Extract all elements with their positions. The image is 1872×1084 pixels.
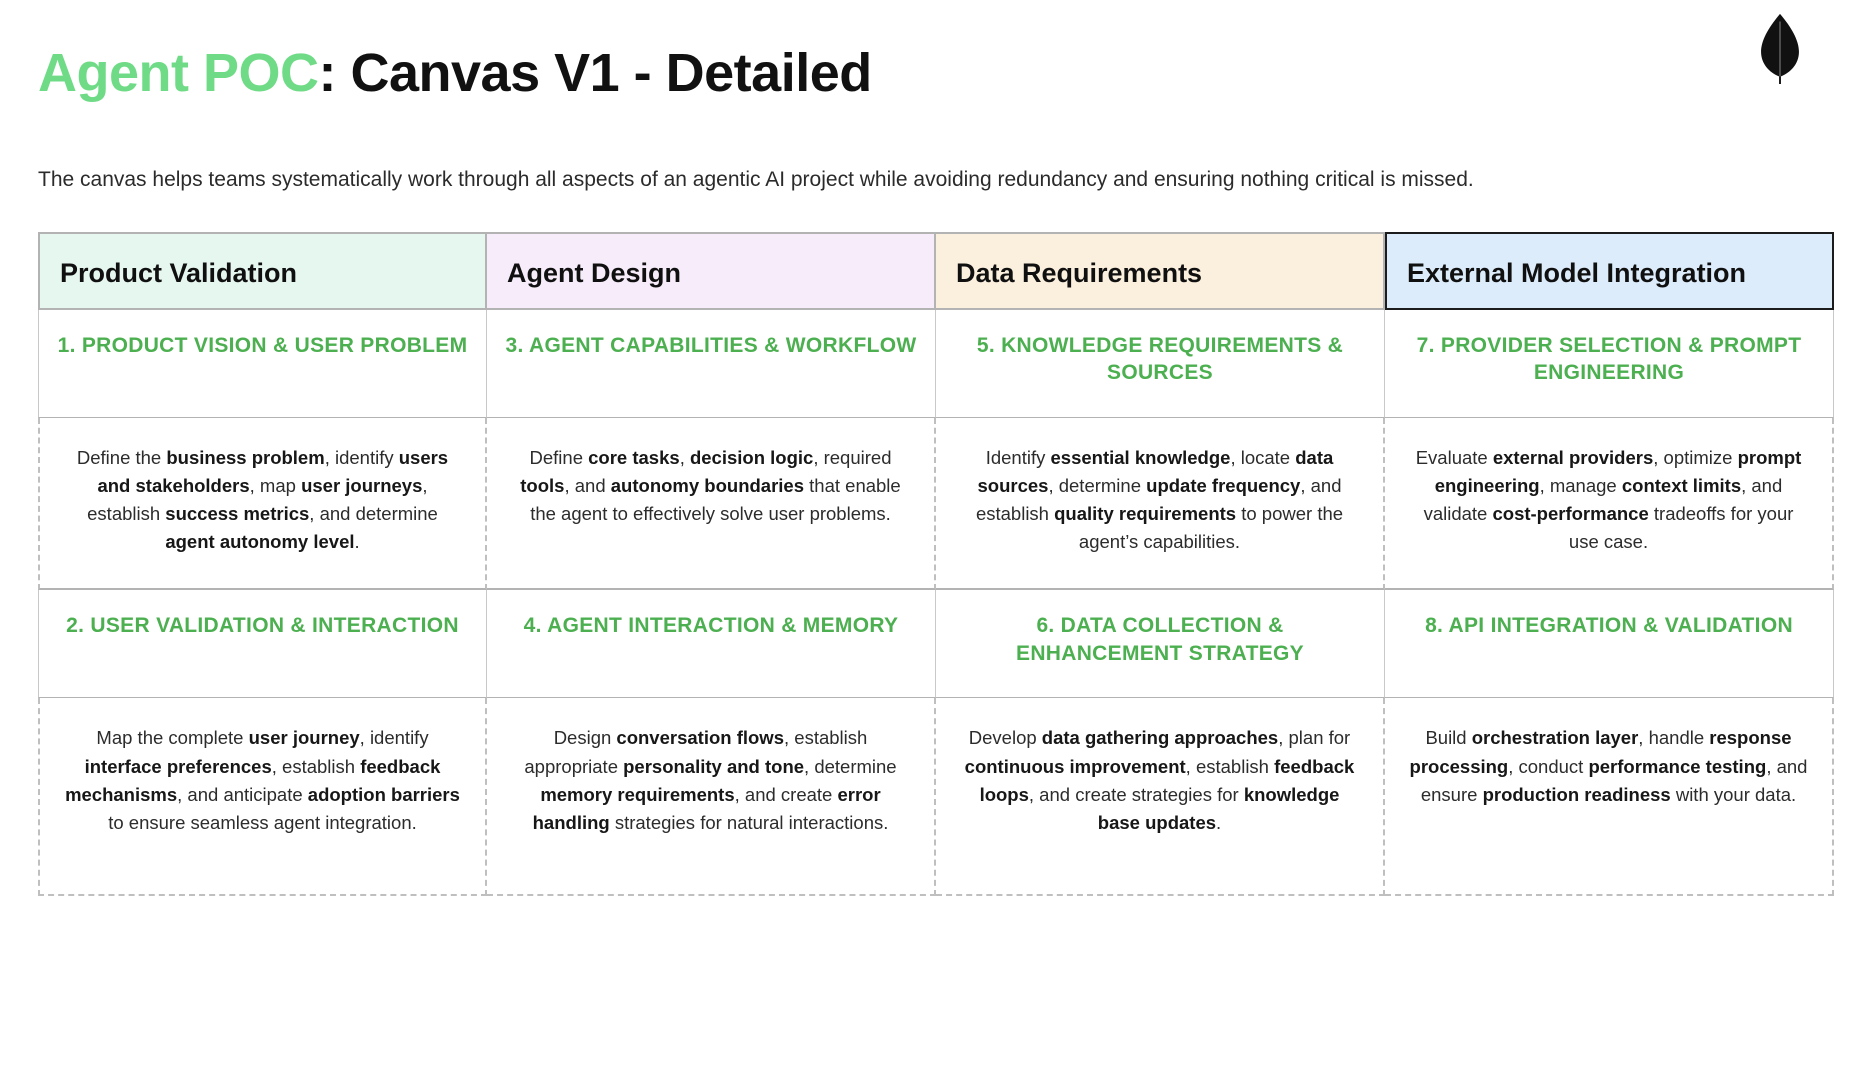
section-body-5: Identify essential knowledge, locate dat… (936, 418, 1385, 590)
page-subtitle: The canvas helps teams systematically wo… (38, 164, 1618, 196)
column-header-label: Agent Design (507, 258, 681, 288)
column-header-agent-design: Agent Design (487, 232, 936, 310)
page-title-rest: : Canvas V1 - Detailed (319, 43, 872, 103)
section-body-1: Define the business problem, identify us… (38, 418, 487, 590)
column-header-label: Product Validation (60, 258, 297, 288)
section-heading-5: 5. KNOWLEDGE REQUIREMENTS & SOURCES (936, 310, 1385, 418)
section-body-6: Develop data gathering approaches, plan … (936, 698, 1385, 896)
section-body-3: Define core tasks, decision logic, requi… (487, 418, 936, 590)
canvas-grid: Product Validation Agent Design Data Req… (38, 232, 1834, 897)
column-header-product-validation: Product Validation (38, 232, 487, 310)
canvas-page: Agent POC: Canvas V1 - Detailed The canv… (0, 0, 1872, 1084)
page-title: Agent POC: Canvas V1 - Detailed (38, 42, 872, 106)
section-heading-1: 1. PRODUCT VISION & USER PROBLEM (38, 310, 487, 418)
section-heading-4: 4. AGENT INTERACTION & MEMORY (487, 590, 936, 698)
mongodb-leaf-logo (1750, 12, 1810, 84)
column-header-external-model-integration: External Model Integration (1385, 232, 1834, 310)
section-body-8: Build orchestration layer, handle respon… (1385, 698, 1834, 896)
column-header-label: Data Requirements (956, 258, 1202, 288)
section-body-7: Evaluate external providers, optimize pr… (1385, 418, 1834, 590)
section-heading-8: 8. API INTEGRATION & VALIDATION (1385, 590, 1834, 698)
section-heading-7: 7. PROVIDER SELECTION & PROMPT ENGINEERI… (1385, 310, 1834, 418)
page-header: Agent POC: Canvas V1 - Detailed (38, 0, 1834, 142)
column-header-label: External Model Integration (1407, 258, 1746, 288)
section-heading-2: 2. USER VALIDATION & INTERACTION (38, 590, 487, 698)
column-header-data-requirements: Data Requirements (936, 232, 1385, 310)
section-heading-6: 6. DATA COLLECTION & ENHANCEMENT STRATEG… (936, 590, 1385, 698)
section-heading-3: 3. AGENT CAPABILITIES & WORKFLOW (487, 310, 936, 418)
section-body-4: Design conversation flows, establish app… (487, 698, 936, 896)
page-title-accent: Agent POC (38, 43, 319, 103)
section-body-2: Map the complete user journey, identify … (38, 698, 487, 896)
